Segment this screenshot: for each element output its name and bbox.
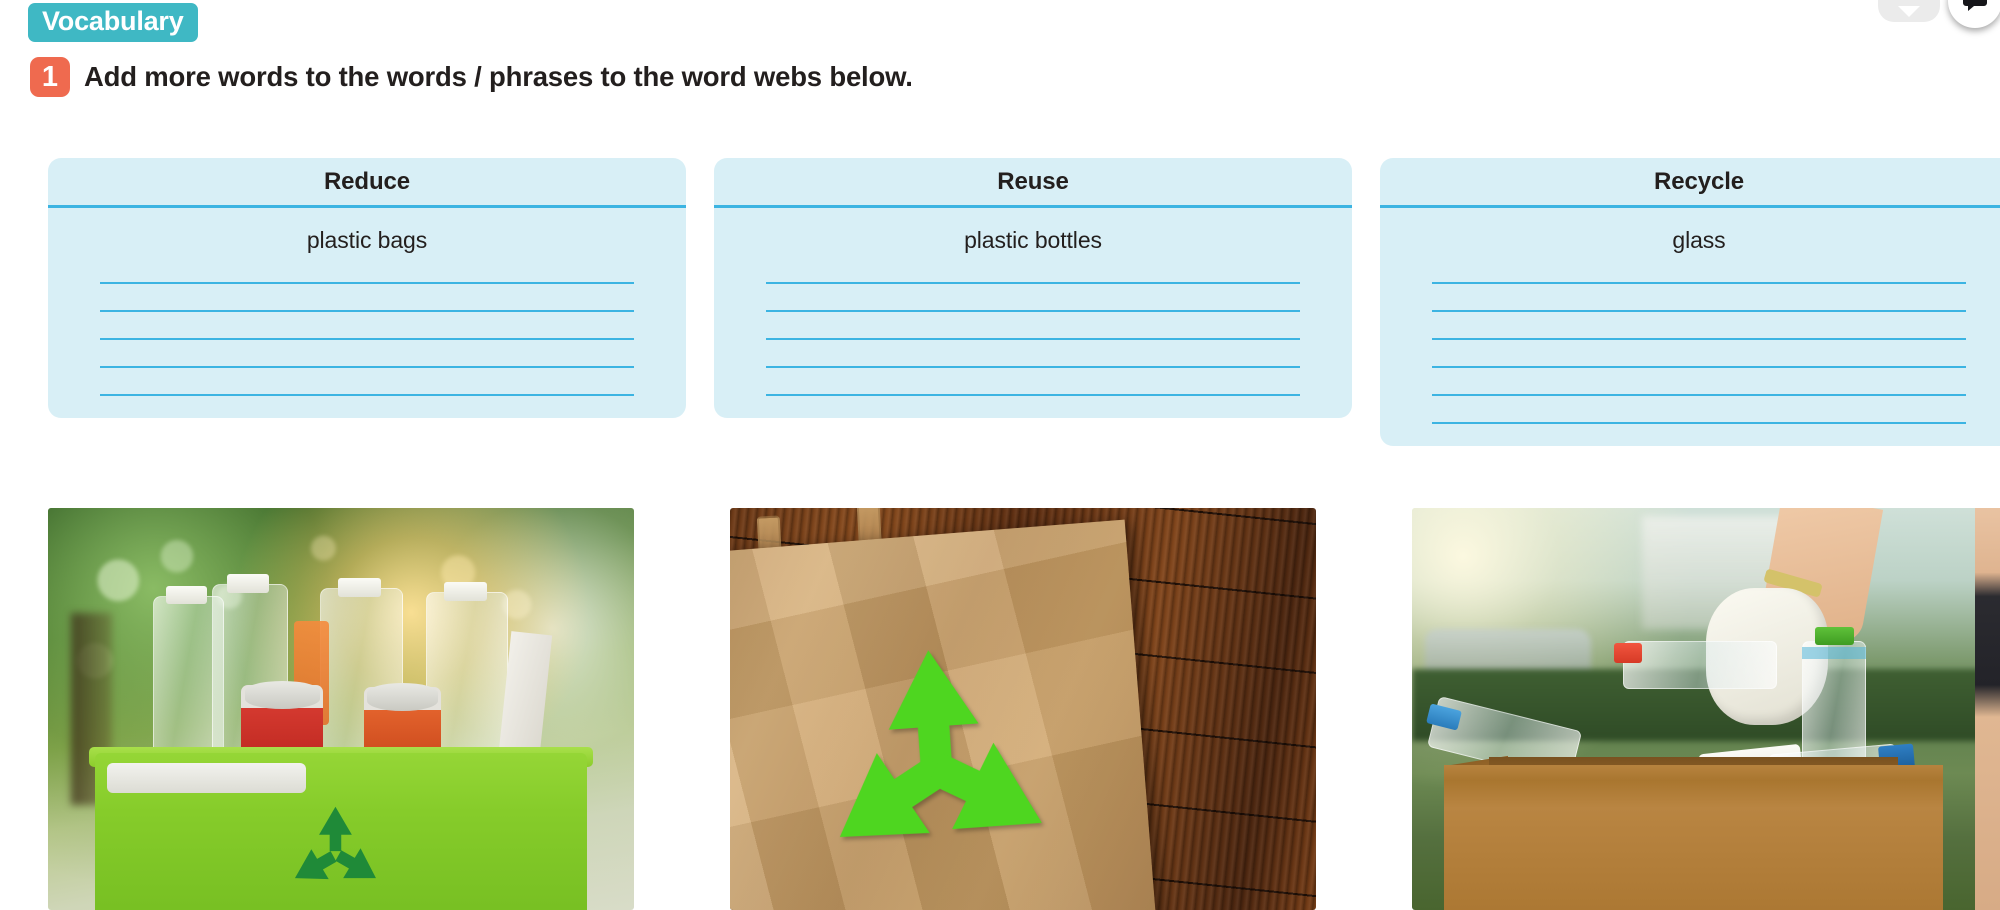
word-web-card-reduce: Reduce plastic bags [48, 158, 686, 418]
speech-bubble-icon [1960, 0, 1990, 16]
card-seed-word: plastic bags [48, 208, 686, 258]
recycle-symbol-icon [271, 801, 400, 897]
bottle-label [1802, 647, 1866, 659]
bottle-cap-red [1614, 643, 1643, 663]
collapse-toolbar-tab[interactable] [1878, 0, 1940, 22]
write-line[interactable] [100, 366, 634, 368]
bottle-cap [444, 582, 487, 600]
word-web-cards-row: Reduce plastic bags Reuse plastic bottle… [48, 158, 2000, 446]
plastic-bottle [1623, 641, 1777, 689]
circular-action-button[interactable] [1948, 0, 2000, 28]
write-line[interactable] [766, 310, 1300, 312]
write-line[interactable] [1432, 310, 1966, 312]
photo-green-recycling-bin [48, 508, 634, 910]
card-title: Recycle [1380, 158, 2000, 205]
write-line[interactable] [1432, 366, 1966, 368]
write-line[interactable] [100, 394, 634, 396]
exercise-header: 1 Add more words to the words / phrases … [30, 57, 913, 97]
bottle-cap [227, 574, 269, 592]
bin-handle [107, 763, 306, 793]
recycle-symbol-icon [781, 631, 1089, 876]
photo-hand-placing-bottles-in-box [1412, 508, 2000, 910]
worksheet-page: Vocabulary 1 Add more words to the words… [0, 0, 2000, 910]
photo-paper-bag-recycle-symbol [730, 508, 1316, 910]
section-badge-vocabulary: Vocabulary [28, 3, 198, 42]
chevron-down-icon [1898, 6, 1920, 17]
bottle-cap [338, 578, 381, 596]
write-line[interactable] [100, 310, 634, 312]
write-line[interactable] [100, 282, 634, 284]
write-line[interactable] [1432, 422, 1966, 424]
write-line[interactable] [100, 338, 634, 340]
can-top [245, 681, 320, 709]
write-line[interactable] [1432, 394, 1966, 396]
bottle-cap-green [1815, 627, 1853, 645]
exercise-instruction: Add more words to the words / phrases to… [84, 61, 913, 93]
write-line[interactable] [766, 366, 1300, 368]
card-blank-lines [1380, 258, 2000, 424]
person-legs [1975, 508, 2000, 910]
photos-row [48, 508, 2000, 910]
card-seed-word: glass [1380, 208, 2000, 258]
exercise-number-badge: 1 [30, 57, 70, 97]
write-line[interactable] [766, 394, 1300, 396]
write-line[interactable] [1432, 282, 1966, 284]
card-blank-lines [714, 258, 1352, 396]
write-line[interactable] [1432, 338, 1966, 340]
card-title: Reuse [714, 158, 1352, 205]
word-web-card-recycle: Recycle glass [1380, 158, 2000, 446]
can-top [367, 683, 437, 711]
cardboard-box [1444, 765, 1943, 910]
card-title: Reduce [48, 158, 686, 205]
card-seed-word: plastic bottles [714, 208, 1352, 258]
bottle-cap [166, 586, 207, 604]
word-web-card-reuse: Reuse plastic bottles [714, 158, 1352, 418]
write-line[interactable] [766, 282, 1300, 284]
card-blank-lines [48, 258, 686, 396]
write-line[interactable] [766, 338, 1300, 340]
